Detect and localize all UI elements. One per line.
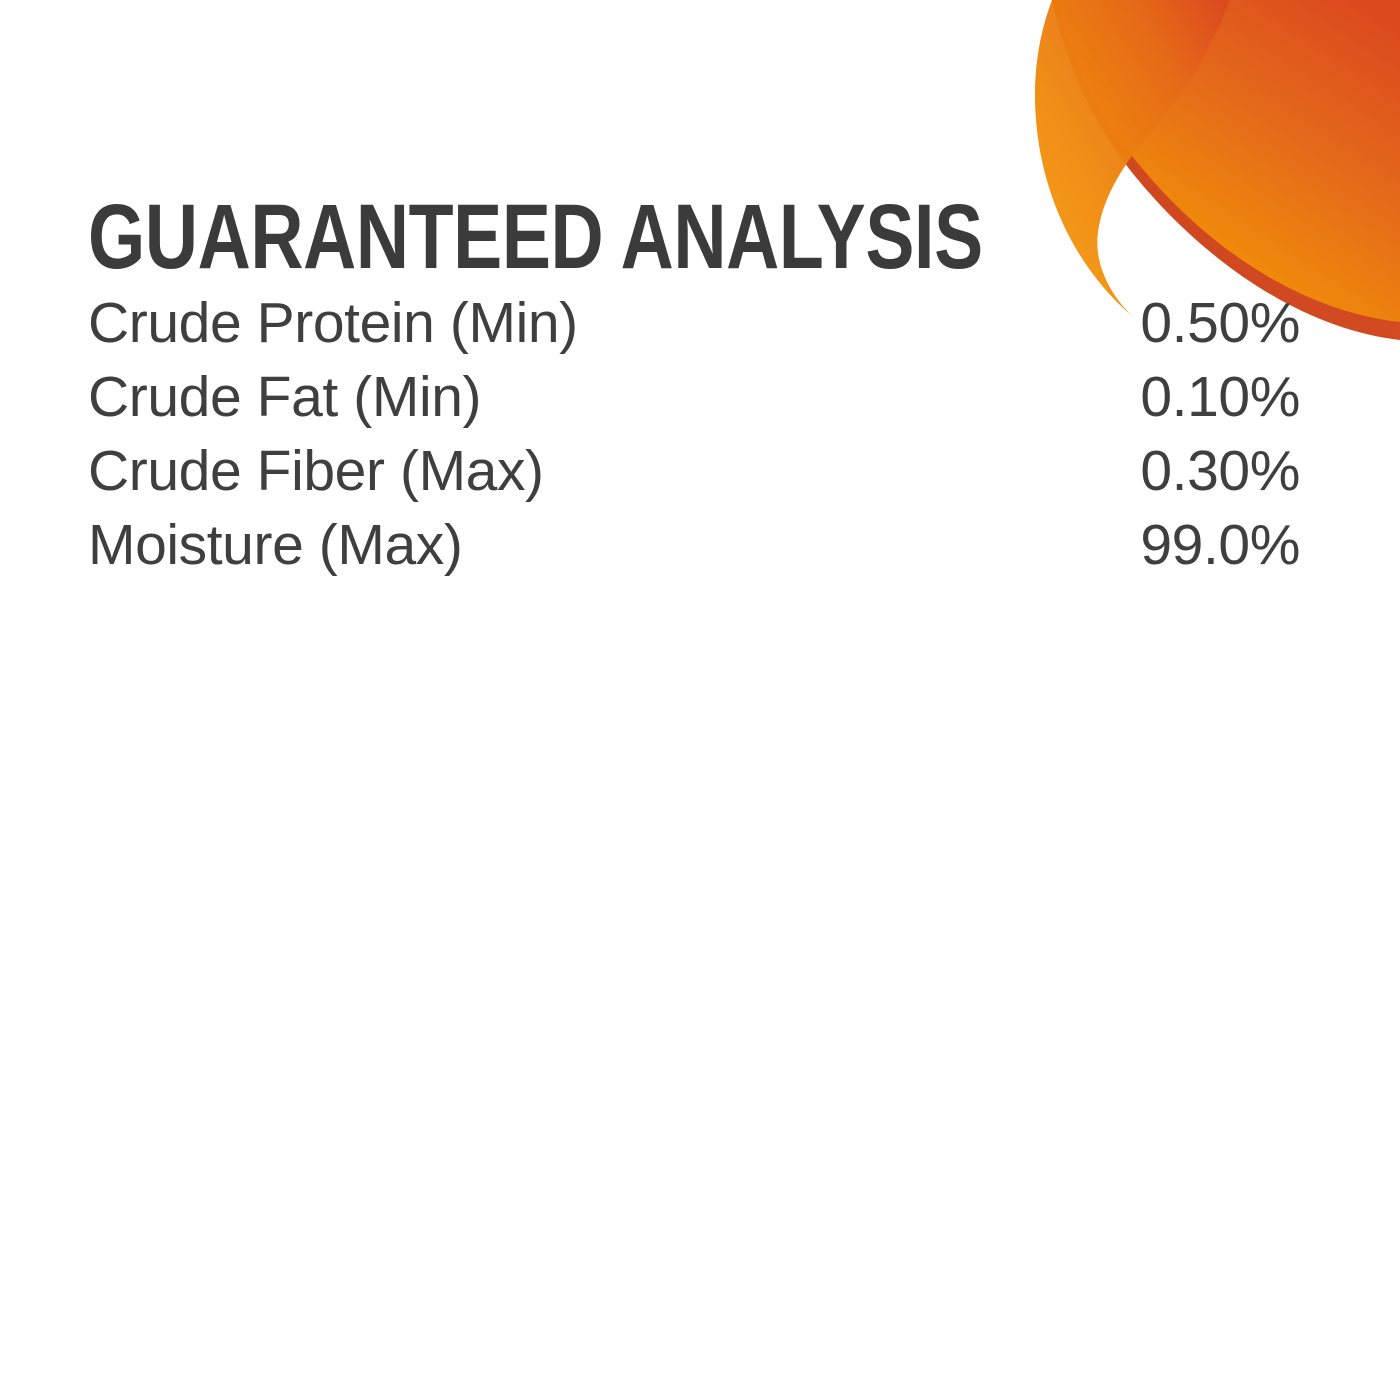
swoosh-back-shape — [1056, 0, 1400, 322]
nutrient-value: 0.50% — [1140, 286, 1300, 360]
nutrient-value: 99.0% — [1140, 508, 1300, 582]
table-row: Crude Fiber (Max) 0.30% — [88, 434, 1300, 508]
page-title: GUARANTEED ANALYSIS — [88, 194, 983, 281]
nutrient-value: 0.10% — [1140, 360, 1300, 434]
swoosh-front-shape — [1035, 0, 1230, 316]
guaranteed-analysis-panel: GUARANTEED ANALYSIS Crude Protein (Min) … — [0, 0, 1400, 1400]
nutrient-label: Moisture (Max) — [88, 508, 462, 582]
table-row: Crude Fat (Min) 0.10% — [88, 360, 1300, 434]
nutrient-label: Crude Protein (Min) — [88, 286, 578, 360]
table-row: Crude Protein (Min) 0.50% — [88, 286, 1300, 360]
table-row: Moisture (Max) 99.0% — [88, 508, 1300, 582]
nutrient-label: Crude Fiber (Max) — [88, 434, 544, 508]
guaranteed-analysis-table: Crude Protein (Min) 0.50% Crude Fat (Min… — [88, 286, 1300, 582]
nutrient-label: Crude Fat (Min) — [88, 360, 481, 434]
nutrient-value: 0.30% — [1140, 434, 1300, 508]
